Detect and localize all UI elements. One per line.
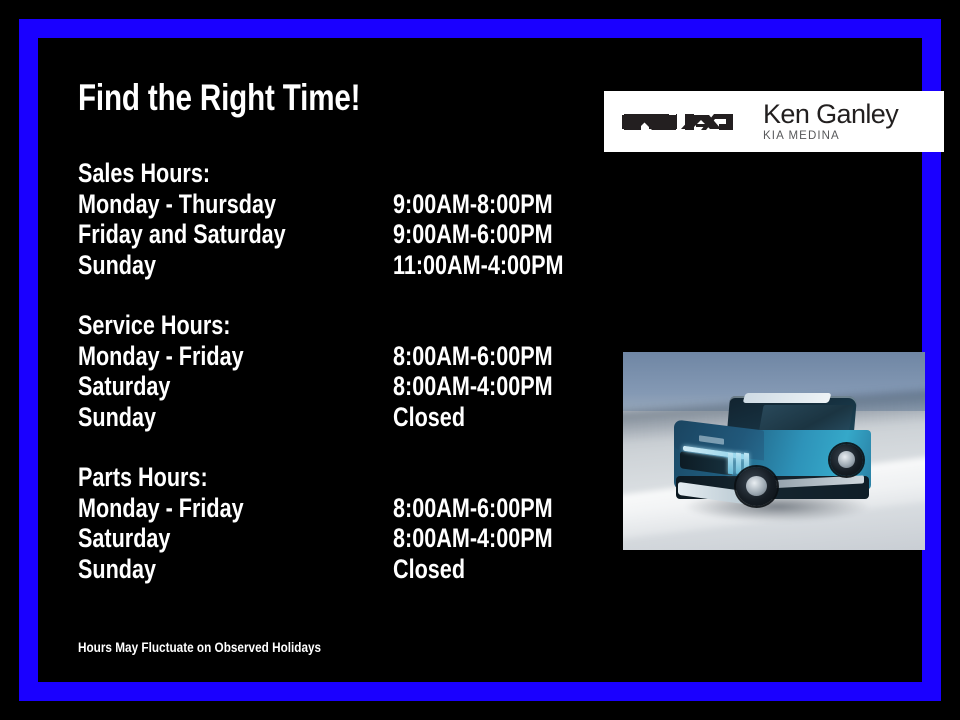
dealer-location: KIA MEDINA xyxy=(763,131,898,143)
holiday-disclaimer: Hours May Fluctuate on Observed Holidays xyxy=(78,640,321,654)
dealer-name-group: Ken Ganley KIA MEDINA xyxy=(763,101,898,143)
table-row: Sunday Closed xyxy=(78,402,598,433)
table-row: Sunday Closed xyxy=(78,554,598,585)
table-row: Sunday 11:00AM-4:00PM xyxy=(78,250,598,281)
hours-value: 11:00AM-4:00PM xyxy=(393,250,606,281)
service-hours-heading: Service Hours: xyxy=(78,310,598,341)
suv-wheel-hub xyxy=(746,476,767,496)
kia-ev9-suv-photo xyxy=(623,352,925,550)
dealer-name: Ken Ganley xyxy=(763,101,898,128)
table-row: Monday - Friday 8:00AM-6:00PM xyxy=(78,341,598,372)
hours-value: Closed xyxy=(393,402,483,433)
table-row: Saturday 8:00AM-4:00PM xyxy=(78,523,598,554)
hours-value: 9:00AM-8:00PM xyxy=(393,189,593,220)
suv-illustration xyxy=(674,396,879,511)
suv-headlight-bar xyxy=(728,453,733,474)
hours-value: 8:00AM-4:00PM xyxy=(393,523,593,554)
slide-canvas: Find the Right Time! Sales Hours: Monday… xyxy=(0,0,960,720)
dealer-logo-panel: Ken Ganley KIA MEDINA xyxy=(604,91,944,152)
kia-logo-icon xyxy=(621,107,741,137)
sales-hours-heading: Sales Hours: xyxy=(78,158,598,189)
slide-content-area: Find the Right Time! Sales Hours: Monday… xyxy=(38,38,922,682)
service-hours-block: Service Hours: Monday - Friday 8:00AM-6:… xyxy=(78,310,598,432)
table-row: Monday - Friday 8:00AM-6:00PM xyxy=(78,493,598,524)
suv-roof xyxy=(743,393,832,403)
suv-headlight-bar xyxy=(736,453,741,474)
hours-value: Closed xyxy=(393,554,483,585)
parts-hours-block: Parts Hours: Monday - Friday 8:00AM-6:00… xyxy=(78,462,598,584)
page-title: Find the Right Time! xyxy=(78,79,360,116)
hours-value: 8:00AM-6:00PM xyxy=(393,341,593,372)
sales-hours-block: Sales Hours: Monday - Thursday 9:00AM-8:… xyxy=(78,158,598,280)
hours-value: 8:00AM-4:00PM xyxy=(393,371,593,402)
table-row: Friday and Saturday 9:00AM-6:00PM xyxy=(78,219,598,250)
parts-hours-heading: Parts Hours: xyxy=(78,462,598,493)
suv-front-wheel xyxy=(736,467,777,506)
suv-wheel-hub xyxy=(838,451,855,468)
hours-value: 9:00AM-6:00PM xyxy=(393,219,593,250)
table-row: Monday - Thursday 9:00AM-8:00PM xyxy=(78,189,598,220)
table-row: Saturday 8:00AM-4:00PM xyxy=(78,371,598,402)
hours-value: 8:00AM-6:00PM xyxy=(393,493,593,524)
suv-rear-wheel xyxy=(830,444,863,476)
